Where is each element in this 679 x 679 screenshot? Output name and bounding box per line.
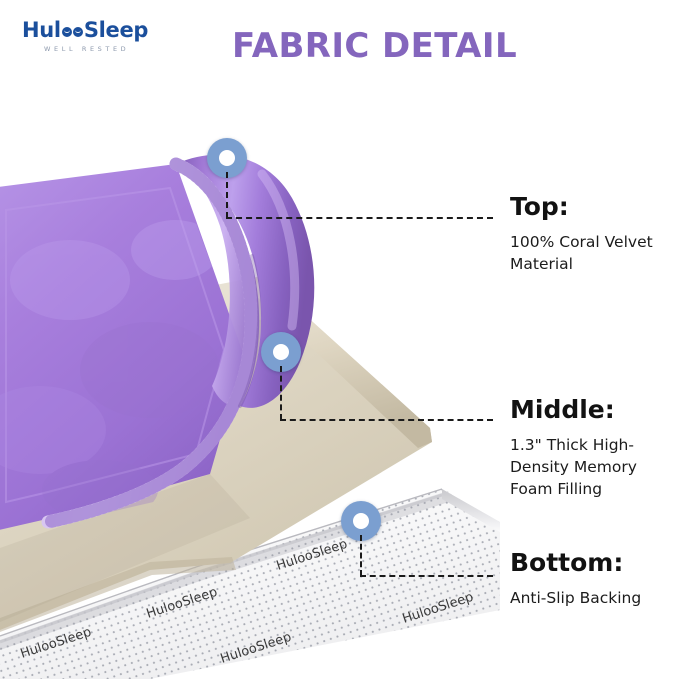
callout-top-body: 100% Coral Velvet Material	[510, 231, 675, 275]
product-illustration: HulooSleep HulooSleep HulooSleep HulooSl…	[0, 70, 500, 679]
callout-bottom-heading: Bottom:	[510, 549, 675, 577]
callout-middle-heading: Middle:	[510, 396, 675, 424]
callout-bottom: Bottom: Anti-Slip Backing	[510, 549, 675, 609]
logo-text-prefix: Hul	[22, 20, 61, 41]
sleeping-eye-right-icon	[73, 27, 83, 37]
marker-center-icon	[219, 150, 235, 166]
fabric-detail-infographic: Hul Sleep WELL RESTED FABRIC DETAIL	[0, 0, 679, 679]
leader-line-top-horizontal	[226, 217, 493, 219]
leader-line-bottom-horizontal	[360, 575, 493, 577]
logo-text-suffix: Sleep	[84, 20, 148, 41]
marker-center-icon	[273, 344, 289, 360]
sleeping-eyes-icon	[62, 27, 83, 37]
sleeping-eye-left-icon	[62, 27, 72, 37]
callout-middle: Middle: 1.3" Thick High-Density Memory F…	[510, 396, 675, 500]
logo-wordmark: Hul Sleep	[22, 20, 172, 41]
callout-top-heading: Top:	[510, 193, 675, 221]
callout-bottom-body: Anti-Slip Backing	[510, 587, 675, 609]
marker-center-icon	[353, 513, 369, 529]
leader-line-middle-horizontal	[280, 419, 493, 421]
leader-line-bottom-vertical	[360, 535, 362, 576]
leader-line-top-vertical	[226, 172, 228, 218]
brand-logo: Hul Sleep WELL RESTED	[22, 20, 172, 60]
logo-tagline: WELL RESTED	[44, 45, 172, 53]
callout-top: Top: 100% Coral Velvet Material	[510, 193, 675, 275]
page-title: FABRIC DETAIL	[232, 26, 517, 66]
callout-middle-body: 1.3" Thick High-Density Memory Foam Fill…	[510, 434, 675, 500]
leader-line-middle-vertical	[280, 366, 282, 420]
